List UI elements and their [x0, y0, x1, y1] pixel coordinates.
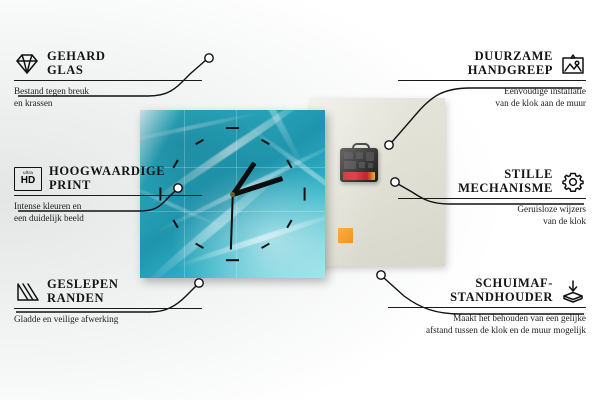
- desc-line: Eenvoudige installatie: [398, 85, 586, 97]
- ground-edges-icon: [14, 280, 40, 304]
- divider: [398, 80, 586, 81]
- feature-stille-mechanisme[interactable]: STILLE MECHANISME Geruisloze wijzers van…: [398, 168, 586, 227]
- foam-spacer-pad: [338, 228, 353, 243]
- divider: [388, 307, 586, 308]
- feature-title-line: GLAS: [47, 64, 105, 78]
- desc-line: een duidelijk beeld: [14, 212, 202, 224]
- feature-heading: SCHUIMAF- STANDHOUDER: [388, 277, 586, 304]
- desc-line: Gladde en veilige afwerking: [14, 313, 202, 325]
- desc-line: Maakt het behouden van een gelijke: [388, 312, 586, 324]
- clock-center-pivot: [230, 192, 235, 197]
- feature-heading: ultra HD HOOGWAARDIGE PRINT: [14, 165, 202, 192]
- feature-description: Gladde en veilige afwerking: [14, 313, 202, 325]
- desc-line: van de klok aan de muur: [398, 97, 586, 109]
- desc-line: Geruisloze wijzers: [398, 203, 586, 215]
- infographic-canvas: GEHARD GLAS Bestand tegen breuk en krass…: [0, 0, 600, 400]
- feature-description: Eenvoudige installatie van de klok aan d…: [398, 85, 586, 109]
- divider: [14, 308, 202, 309]
- hanging-loop-icon: [352, 143, 370, 154]
- divider: [14, 195, 202, 196]
- desc-line: en krassen: [14, 97, 202, 109]
- feature-title-line: HOOGWAARDIGE: [49, 165, 165, 179]
- feature-title-line: DUURZAME: [468, 50, 553, 64]
- feature-heading: DUURZAME HANDGREEP: [398, 50, 586, 77]
- feature-duurzame-handgreep[interactable]: DUURZAME HANDGREEP Eenvoudige installati…: [398, 50, 586, 109]
- feature-schuimafstandhouder[interactable]: SCHUIMAF- STANDHOUDER Maakt het behouden…: [388, 277, 586, 336]
- desc-line: afstand tussen de klok en de muur mogeli…: [388, 324, 586, 336]
- feature-gehard-glas[interactable]: GEHARD GLAS Bestand tegen breuk en krass…: [14, 50, 202, 109]
- ultra-hd-icon: ultra HD: [14, 167, 42, 191]
- feature-title-line: GEHARD: [47, 50, 105, 64]
- hour-marker: [226, 259, 239, 261]
- feature-title-line: RANDEN: [47, 292, 119, 306]
- feature-description: Bestand tegen breuk en krassen: [14, 85, 202, 109]
- desc-line: van de klok: [398, 215, 586, 227]
- arrow-down-pad-icon: [560, 279, 586, 303]
- feature-heading: GESLEPEN RANDEN: [14, 278, 202, 305]
- feature-title-line: PRINT: [49, 179, 165, 193]
- divider: [398, 198, 586, 199]
- feature-description: Intense kleuren en een duidelijk beeld: [14, 200, 202, 224]
- feature-geslepen-randen[interactable]: GESLEPEN RANDEN Gladde en veilige afwerk…: [14, 278, 202, 325]
- clock-mechanism: [340, 148, 378, 184]
- diamond-icon: [14, 52, 40, 76]
- feature-title-line: MECHANISME: [458, 182, 553, 196]
- feature-title-line: STANDHOUDER: [450, 291, 553, 305]
- mechanism-body: [340, 148, 378, 182]
- feature-heading: GEHARD GLAS: [14, 50, 202, 77]
- ultra-hd-bottom-text: HD: [21, 176, 35, 186]
- feature-title-line: STILLE: [458, 168, 553, 182]
- feature-description: Geruisloze wijzers van de klok: [398, 203, 586, 227]
- hour-marker: [303, 187, 305, 200]
- gear-icon: [560, 170, 586, 194]
- feature-title-line: SCHUIMAF-: [450, 277, 553, 291]
- desc-line: Intense kleuren en: [14, 200, 202, 212]
- divider: [14, 80, 202, 81]
- feature-title-line: HANDGREEP: [468, 64, 553, 78]
- feature-description: Maakt het behouden van een gelijke afsta…: [388, 312, 586, 336]
- battery: [343, 172, 375, 180]
- feature-heading: STILLE MECHANISME: [398, 168, 586, 195]
- foam-pad-shadow: [343, 233, 357, 247]
- feature-title-line: GESLEPEN: [47, 278, 119, 292]
- hour-marker: [226, 127, 239, 129]
- picture-frame-icon: [560, 52, 586, 76]
- feature-hoogwaardige-print[interactable]: ultra HD HOOGWAARDIGE PRINT Intense kleu…: [14, 165, 202, 224]
- desc-line: Bestand tegen breuk: [14, 85, 202, 97]
